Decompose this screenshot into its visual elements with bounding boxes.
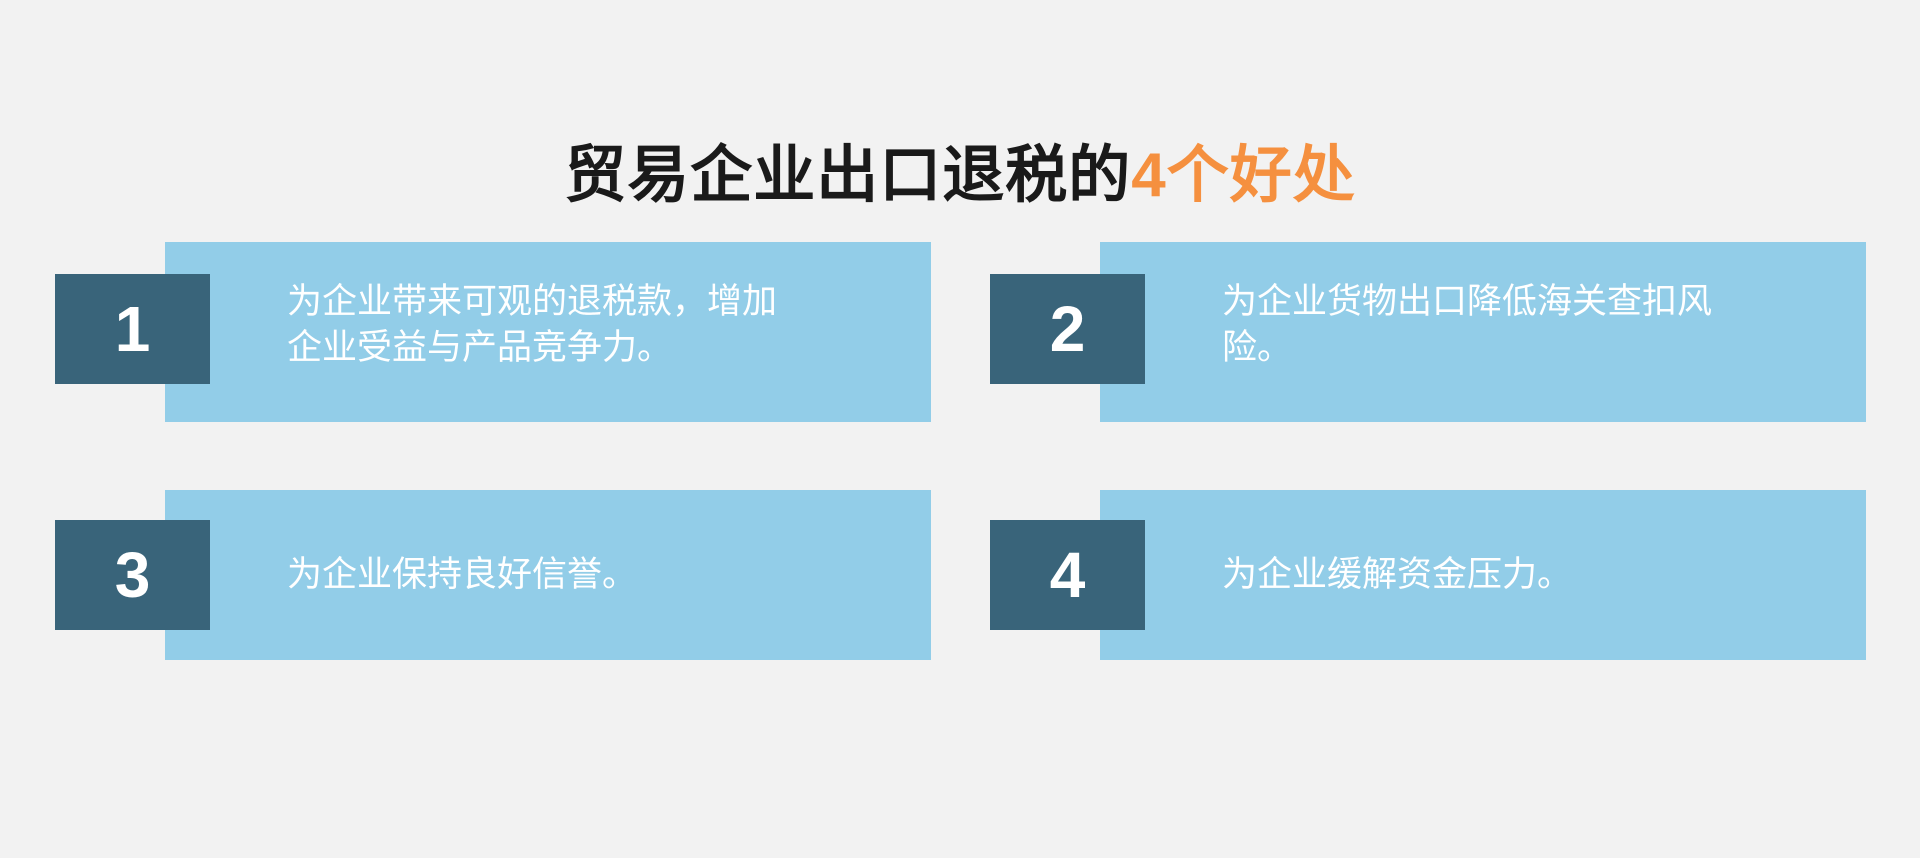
benefit-card-3-number: 3 [55, 520, 210, 630]
benefit-card-4: 4 为企业缓解资金压力。 [990, 490, 1866, 660]
benefit-card-4-number: 4 [990, 520, 1145, 630]
benefit-card-2-number: 2 [990, 274, 1145, 384]
benefit-card-3-text: 为企业保持良好信誉。 [287, 552, 977, 598]
benefit-card-1: 1 为企业带来可观的退税款，增加 企业受益与产品竞争力。 [55, 242, 931, 422]
benefit-card-1-text: 为企业带来可观的退税款，增加 企业受益与产品竞争力。 [287, 279, 977, 371]
benefit-card-2: 2 为企业货物出口降低海关查扣风 险。 [990, 242, 1866, 422]
benefit-card-1-number: 1 [55, 274, 210, 384]
page-title-wrap: 贸易企业出口退税的4个好处 [0, 100, 1920, 251]
infographic-root: 贸易企业出口退税的4个好处 1 为企业带来可观的退税款，增加 企业受益与产品竞争… [0, 0, 1920, 858]
page-title: 贸易企业出口退税的4个好处 [564, 142, 1356, 210]
benefit-card-2-text: 为企业货物出口降低海关查扣风 险。 [1222, 279, 1912, 371]
benefit-card-3: 3 为企业保持良好信誉。 [55, 490, 931, 660]
benefit-card-4-text: 为企业缓解资金压力。 [1222, 552, 1912, 598]
page-title-accent: 4个好处 [1131, 141, 1355, 210]
page-title-main: 贸易企业出口退税的 [564, 141, 1131, 210]
